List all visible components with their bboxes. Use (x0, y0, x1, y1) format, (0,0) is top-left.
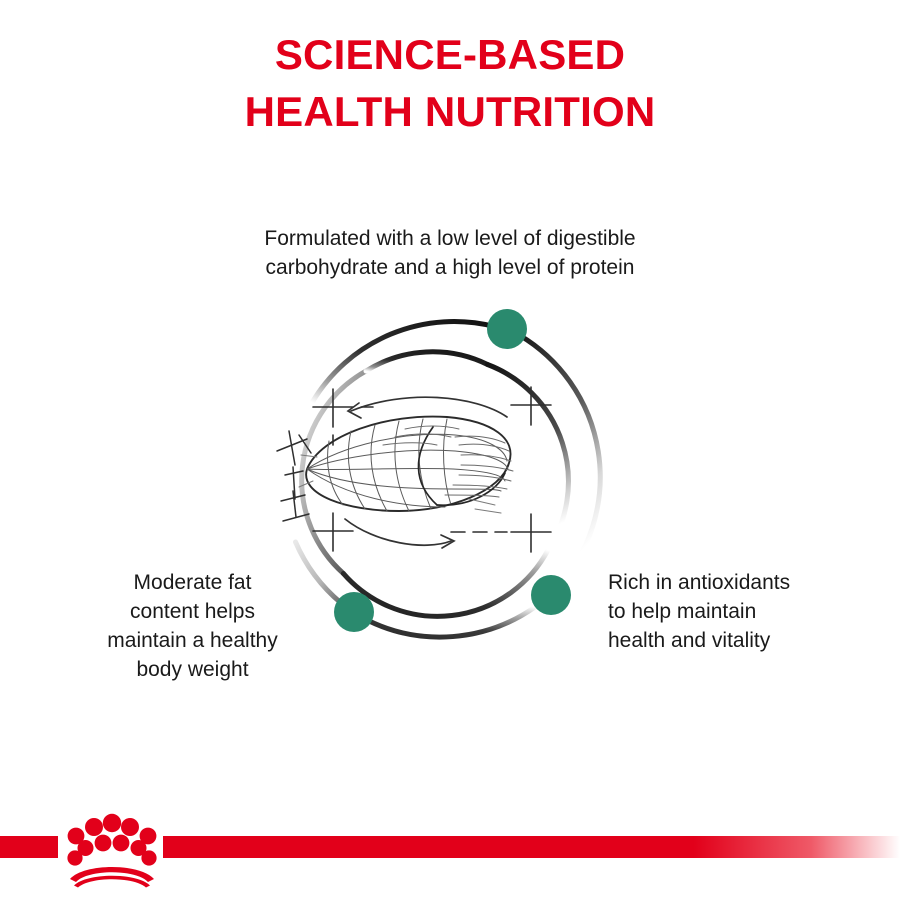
kibble-wireframe-transverse (328, 419, 451, 511)
benefit-text-top: Formulated with a low level of digestibl… (150, 224, 750, 282)
promo-panel: SCIENCE-BASED HEALTH NUTRITION Formulate… (0, 0, 900, 900)
page-title-line-1: SCIENCE-BASED (0, 26, 900, 83)
brand-bar-right (163, 836, 900, 858)
brand-bar-left (0, 836, 58, 858)
accent-dot-top (487, 309, 527, 349)
benefit-top-line-1: Formulated with a low level of digestibl… (150, 224, 750, 253)
royal-canin-crown-logo (56, 812, 168, 888)
accent-dot-bottom-left (334, 592, 374, 632)
brand-footer (0, 800, 900, 900)
page-title-line-2: HEALTH NUTRITION (0, 83, 900, 140)
kibble-diagram (255, 285, 655, 685)
crown-icon (67, 814, 156, 888)
kibble-sketch (277, 387, 551, 552)
accent-dot-bottom-right (531, 575, 571, 615)
inner-ring (302, 352, 569, 617)
flow-arrow-bottom (345, 519, 454, 548)
benefit-top-line-2: carbohydrate and a high level of protein (150, 253, 750, 282)
sketch-ticks (299, 455, 501, 513)
page-title: SCIENCE-BASED HEALTH NUTRITION (0, 26, 900, 140)
